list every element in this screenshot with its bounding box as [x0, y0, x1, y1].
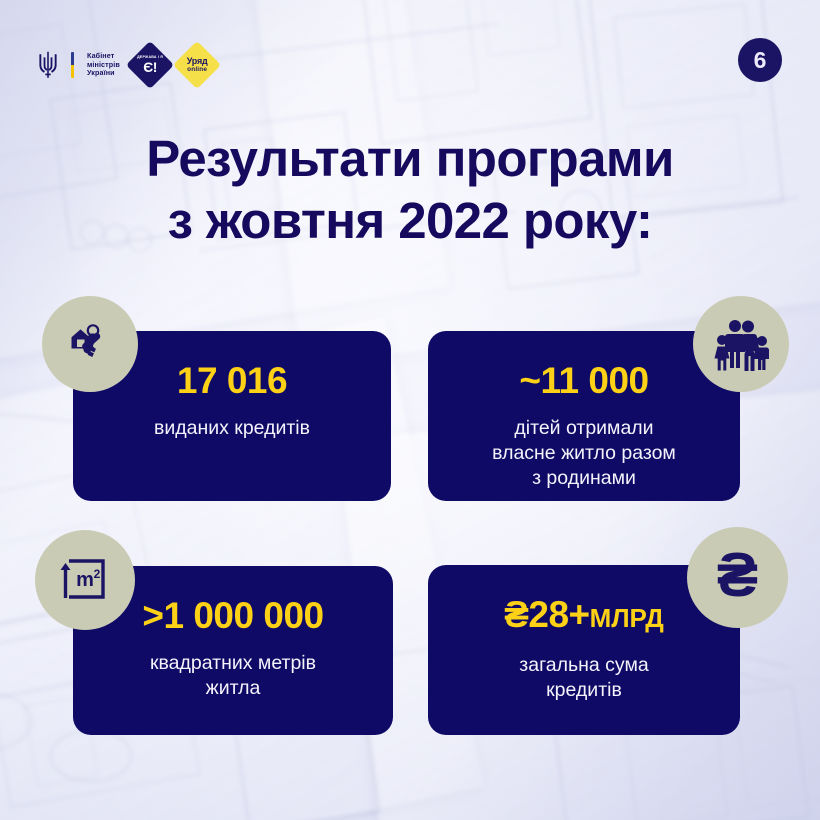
- stat-label: дітей отримали власне житло разом з роди…: [476, 416, 692, 491]
- page-number-badge: 6: [738, 38, 782, 82]
- family-icon: [693, 296, 789, 392]
- header-logos: Кабінет міністрів України ДЕРЖАВА І Я Є!…: [38, 48, 214, 82]
- uryad-label: Уряд: [186, 57, 207, 66]
- diia-diamond-icon: ДЕРЖАВА І Я Є!: [126, 41, 174, 89]
- slide-canvas: Кабінет міністрів України ДЕРЖАВА І Я Є!…: [0, 0, 820, 820]
- stat-value: ~11 000: [519, 361, 648, 401]
- stat-value-number: ~11 000: [519, 360, 648, 401]
- stat-value: >1 000 000: [142, 596, 323, 636]
- cabinet-of-ministers-label: Кабінет міністрів України: [87, 52, 120, 78]
- stat-value: 17 016: [177, 361, 287, 401]
- stat-label: квадратних метрів житла: [134, 651, 332, 701]
- uryad-online-diamond-icon: Уряд online: [173, 41, 221, 89]
- hryvnia-glyph: ₴: [717, 545, 758, 607]
- stat-value-number: >1 000 000: [142, 595, 323, 636]
- page-title: Результати програми з жовтня 2022 року:: [0, 128, 820, 252]
- svg-text:m: m: [76, 569, 94, 591]
- stat-value-unit: МЛРД: [590, 603, 664, 633]
- logo-divider: [71, 52, 74, 78]
- online-label: online: [187, 67, 207, 73]
- svg-text:2: 2: [94, 567, 101, 581]
- page-title-line-1: Результати програми: [0, 128, 820, 190]
- diia-main-text: Є!: [143, 60, 157, 74]
- stat-card-children-housed: ~11 000 дітей отримали власне житло разо…: [428, 331, 740, 501]
- stat-value: ₴28+МЛРД: [504, 595, 664, 638]
- stat-label: загальна сума кредитів: [503, 653, 664, 703]
- stat-value-number: 17 016: [177, 360, 287, 401]
- stat-value-number: ₴28+: [504, 594, 589, 635]
- stat-label: виданих кредитів: [138, 416, 326, 441]
- square-meters-icon: m 2: [35, 530, 135, 630]
- page-title-line-2: з жовтня 2022 року:: [0, 190, 820, 252]
- hryvnia-icon: ₴: [687, 527, 788, 628]
- ukraine-trident-icon: [38, 51, 58, 79]
- house-keys-icon: [42, 296, 138, 392]
